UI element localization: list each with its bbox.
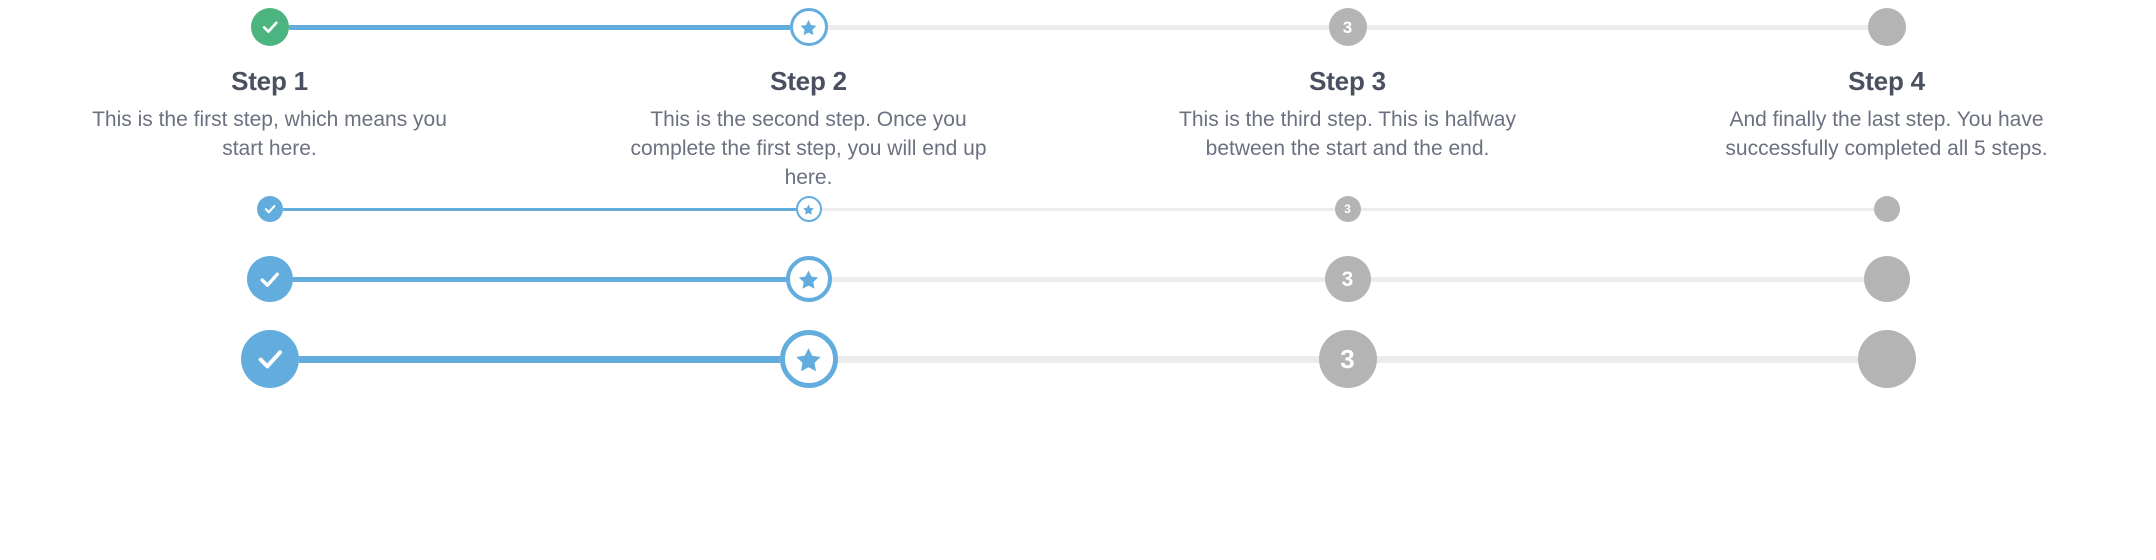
connector-2-3 <box>838 356 1079 363</box>
step-4[interactable] <box>1617 196 2156 222</box>
stepper-small: 3 <box>0 196 2156 222</box>
step-4-rail <box>1617 8 2156 46</box>
step-3[interactable]: 3 <box>1078 196 1617 222</box>
step-1[interactable] <box>0 256 539 302</box>
step-3[interactable]: 3 <box>1078 330 1617 388</box>
step-number-label: 3 <box>1342 269 1354 290</box>
connector-3-4-right <box>1617 277 1864 282</box>
step-4-rail <box>1617 330 2156 388</box>
connector-left-start <box>0 25 251 30</box>
step-2-rail <box>539 8 1078 46</box>
step-marker-pending-3[interactable]: 3 <box>1319 330 1377 388</box>
connector-2-3-right <box>1078 277 1325 282</box>
step-2[interactable]: Step 2 This is the second step. Once you… <box>539 8 1078 192</box>
step-marker-current-2[interactable] <box>796 196 822 222</box>
step-2[interactable] <box>539 256 1078 302</box>
step-marker-pending-3[interactable]: 3 <box>1329 8 1367 46</box>
step-marker-completed-1[interactable] <box>247 256 293 302</box>
connector-2-3 <box>828 25 1079 30</box>
step-3-rail: 3 <box>1078 196 1617 222</box>
step-marker-current-2[interactable] <box>780 330 838 388</box>
connector-1-2-right <box>539 25 790 30</box>
connector-1-2 <box>293 277 540 282</box>
step-marker-current-2[interactable] <box>790 8 828 46</box>
step-2-rail <box>539 256 1078 302</box>
step-marker-completed-1[interactable] <box>241 330 299 388</box>
step-marker-pending-4[interactable] <box>1864 256 1910 302</box>
step-2-rail <box>539 196 1078 222</box>
stepper-labelled: Step 1 This is the first step, which mea… <box>0 8 2156 192</box>
step-marker-completed-1[interactable] <box>257 196 283 222</box>
connector-right-end <box>1906 25 2156 30</box>
step-3[interactable]: 3 <box>1078 256 1617 302</box>
step-2[interactable] <box>539 196 1078 222</box>
connector-right-end <box>1916 356 2156 363</box>
connector-2-3-right <box>1078 208 1335 211</box>
step-1-rail <box>0 256 539 302</box>
step-title: Step 2 <box>553 66 1064 97</box>
connector-right-end <box>1910 277 2156 282</box>
star-icon <box>799 18 818 37</box>
connector-2-3-right <box>1078 356 1319 363</box>
connector-2-3-right <box>1078 25 1329 30</box>
step-1[interactable]: Step 1 This is the first step, which mea… <box>0 8 539 164</box>
step-description: And finally the last step. You have succ… <box>1687 106 2087 164</box>
star-icon <box>802 203 815 216</box>
connector-1-2-right <box>539 277 786 282</box>
step-1-rail <box>0 330 539 388</box>
connector-1-2 <box>299 356 540 363</box>
connector-left-start <box>0 208 257 211</box>
step-title: Step 3 <box>1092 66 1603 97</box>
step-marker-pending-4[interactable] <box>1868 8 1906 46</box>
connector-3-4-right <box>1617 25 1868 30</box>
stepper-showcase: Step 1 This is the first step, which mea… <box>0 0 2156 560</box>
connector-left-start <box>0 277 247 282</box>
step-4-rail <box>1617 196 2156 222</box>
step-marker-pending-3[interactable]: 3 <box>1325 256 1371 302</box>
step-3[interactable]: 3 Step 3 This is the third step. This is… <box>1078 8 1617 164</box>
connector-right-end <box>1900 208 2156 211</box>
connector-3-4 <box>1371 277 1618 282</box>
connector-left-start <box>0 356 241 363</box>
step-description: This is the second step. Once you comple… <box>609 106 1009 192</box>
step-marker-pending-4[interactable] <box>1858 330 1916 388</box>
step-2-text: Step 2 This is the second step. Once you… <box>539 46 1078 192</box>
step-2[interactable] <box>539 330 1078 388</box>
step-4-rail <box>1617 256 2156 302</box>
connector-1-2-right <box>539 208 796 211</box>
step-marker-current-2[interactable] <box>786 256 832 302</box>
stepper-large: 3 <box>0 330 2156 388</box>
check-icon <box>254 343 286 375</box>
step-1[interactable] <box>0 196 539 222</box>
connector-1-2 <box>283 208 540 211</box>
connector-3-4 <box>1377 356 1618 363</box>
step-title: Step 1 <box>14 66 525 97</box>
step-3-rail: 3 <box>1078 330 1617 388</box>
connector-1-2-right <box>539 356 780 363</box>
step-title: Step 4 <box>1631 66 2142 97</box>
step-number-label: 3 <box>1343 19 1352 36</box>
step-2-rail <box>539 330 1078 388</box>
check-icon <box>260 17 280 37</box>
stepper-medium: 3 <box>0 256 2156 302</box>
check-icon <box>263 202 277 216</box>
step-4-text: Step 4 And finally the last step. You ha… <box>1617 46 2156 164</box>
connector-3-4-right <box>1617 356 1858 363</box>
step-3-text: Step 3 This is the third step. This is h… <box>1078 46 1617 164</box>
connector-3-4 <box>1367 25 1618 30</box>
star-icon <box>797 268 820 291</box>
step-1-rail <box>0 196 539 222</box>
step-marker-pending-3[interactable]: 3 <box>1335 196 1361 222</box>
connector-1-2 <box>289 25 540 30</box>
step-3-rail: 3 <box>1078 256 1617 302</box>
step-number-label: 3 <box>1344 203 1351 215</box>
star-icon <box>794 345 823 374</box>
step-number-label: 3 <box>1340 346 1354 372</box>
connector-3-4 <box>1361 208 1618 211</box>
connector-2-3 <box>822 208 1079 211</box>
step-4[interactable] <box>1617 256 2156 302</box>
check-icon <box>257 267 282 292</box>
step-marker-pending-4[interactable] <box>1874 196 1900 222</box>
step-1-text: Step 1 This is the first step, which mea… <box>0 46 539 164</box>
step-1[interactable] <box>0 330 539 388</box>
connector-2-3 <box>832 277 1079 282</box>
step-3-rail: 3 <box>1078 8 1617 46</box>
step-description: This is the third step. This is halfway … <box>1148 106 1548 164</box>
step-4[interactable]: Step 4 And finally the last step. You ha… <box>1617 8 2156 164</box>
step-marker-completed-1[interactable] <box>251 8 289 46</box>
step-description: This is the first step, which means you … <box>70 106 470 164</box>
connector-3-4-right <box>1617 208 1874 211</box>
step-4[interactable] <box>1617 330 2156 388</box>
step-1-rail <box>0 8 539 46</box>
